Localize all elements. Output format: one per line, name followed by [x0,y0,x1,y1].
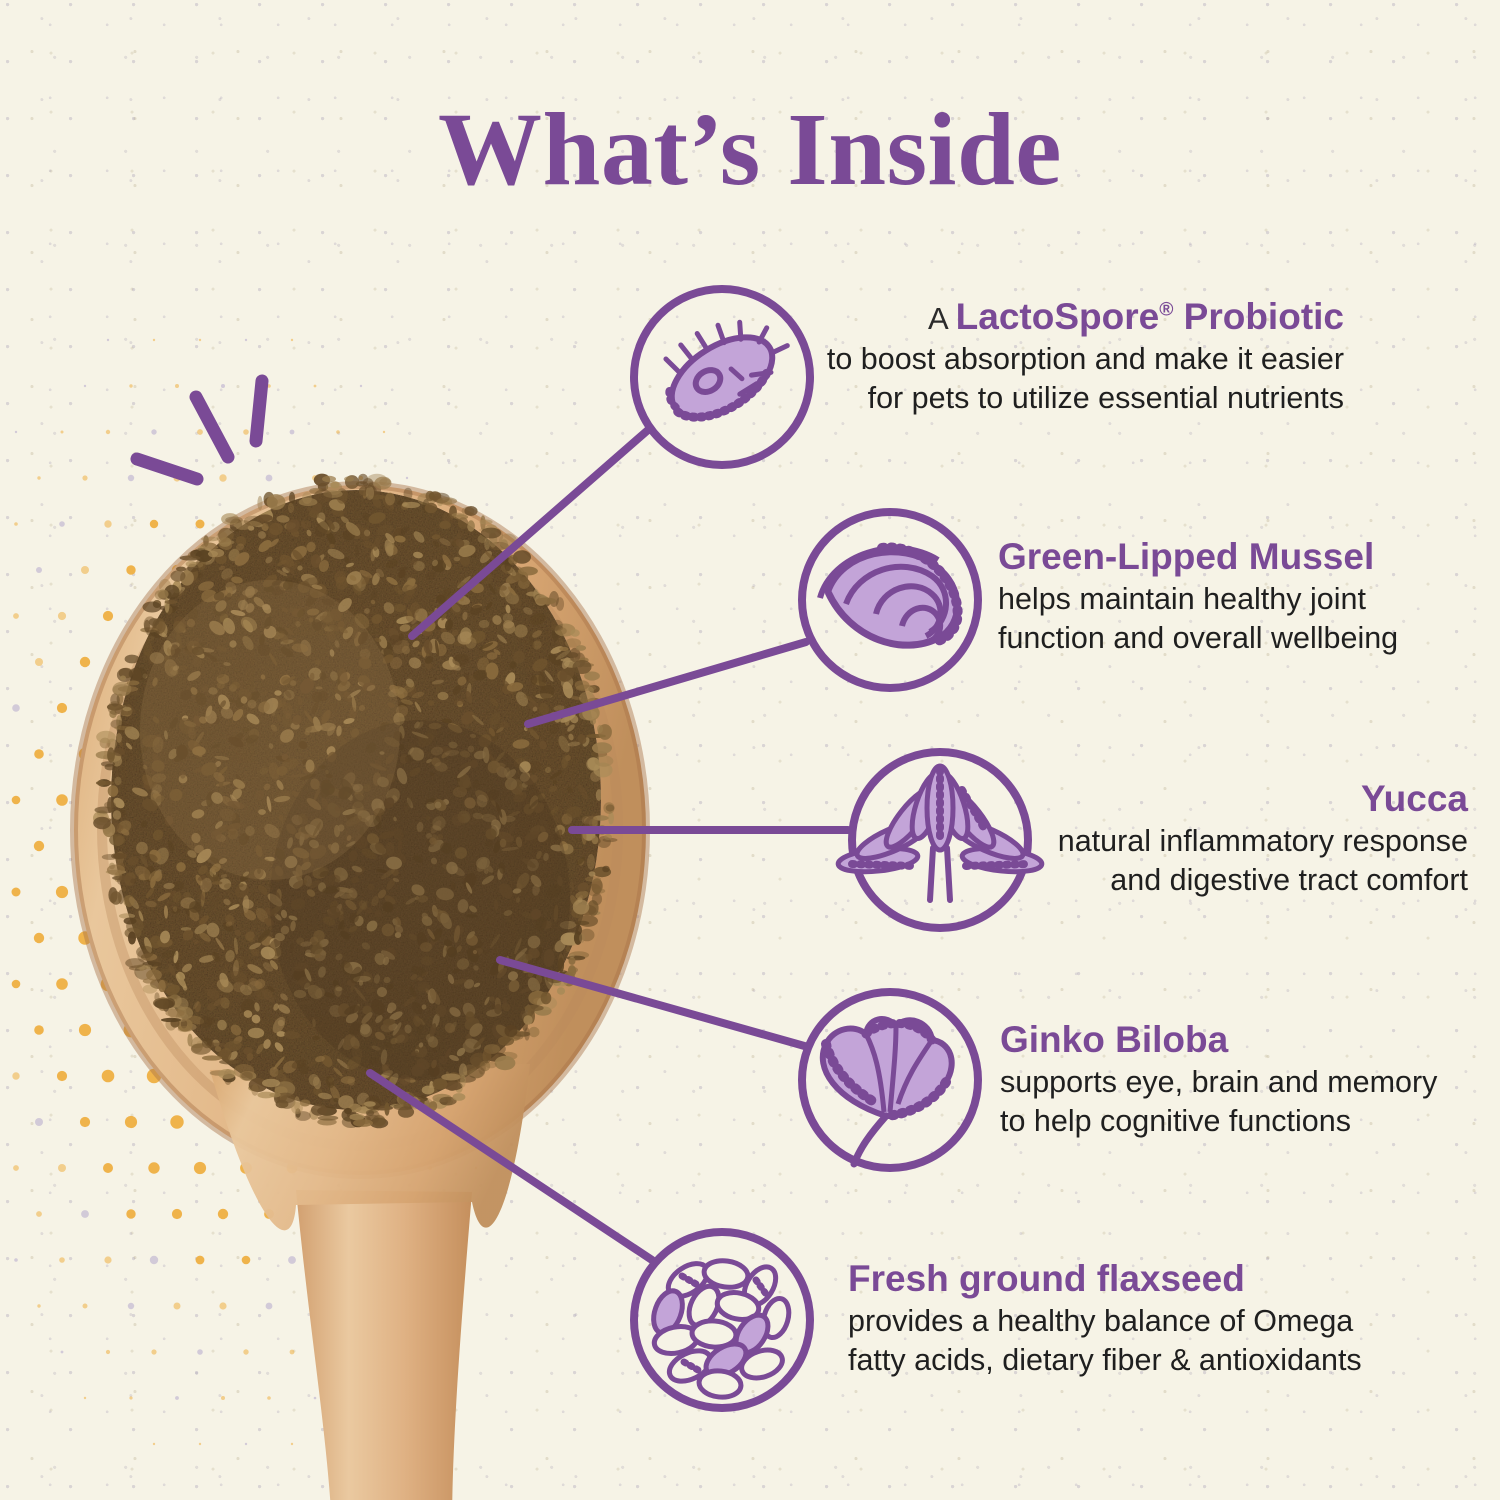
callout-text-mussel: Green-Lipped Mussel helps maintain healt… [998,536,1468,657]
callout-text-lactospore: A LactoSpore® Probiotic to boost absorpt… [0,296,1344,417]
callout-text-yucca: Yucca natural inflammatory response and … [960,778,1468,899]
trademark-symbol: ® [1159,300,1173,321]
callout-heading-ginko: Ginko Biloba [1000,1019,1470,1060]
callout-heading-mussel: Green-Lipped Mussel [998,536,1468,577]
infographic-canvas: What’s Inside A LactoSpore® Probiotic to… [0,0,1500,1500]
callout-heading-flaxseed: Fresh ground flaxseed [848,1258,1408,1299]
callout-body-line-2: function and overall wellbeing [998,619,1468,657]
flaxseed-cluster-icon [648,1257,793,1399]
callout-body-line-2: for pets to utilize essential nutrients [0,379,1344,417]
callout-body-line-1: to boost absorption and make it easier [0,340,1344,378]
callout-body-line-2: to help cognitive functions [1000,1102,1470,1140]
callout-heading-tail-lactospore: Probiotic [1173,296,1344,337]
callout-body-line-1: supports eye, brain and memory [1000,1063,1470,1101]
callout-body-line-1: natural inflammatory response [960,822,1468,860]
callout-body-line-2: and digestive tract comfort [960,861,1468,899]
page-title: What’s Inside [0,98,1500,202]
callout-body-line-1: helps maintain healthy joint [998,580,1468,618]
callout-text-flaxseed: Fresh ground flaxseed provides a healthy… [848,1258,1408,1379]
callout-text-ginko: Ginko Biloba supports eye, brain and mem… [1000,1019,1470,1140]
callout-body-line-1: provides a healthy balance of Omega [848,1302,1408,1340]
callout-lead-lactospore: A [928,301,956,336]
callout-body-line-2: fatty acids, dietary fiber & antioxidant… [848,1341,1408,1379]
callout-heading-yucca: Yucca [960,778,1468,819]
callout-brand-lactospore: LactoSpore [956,296,1160,337]
callout-heading-lactospore: A LactoSpore® Probiotic [0,296,1344,337]
